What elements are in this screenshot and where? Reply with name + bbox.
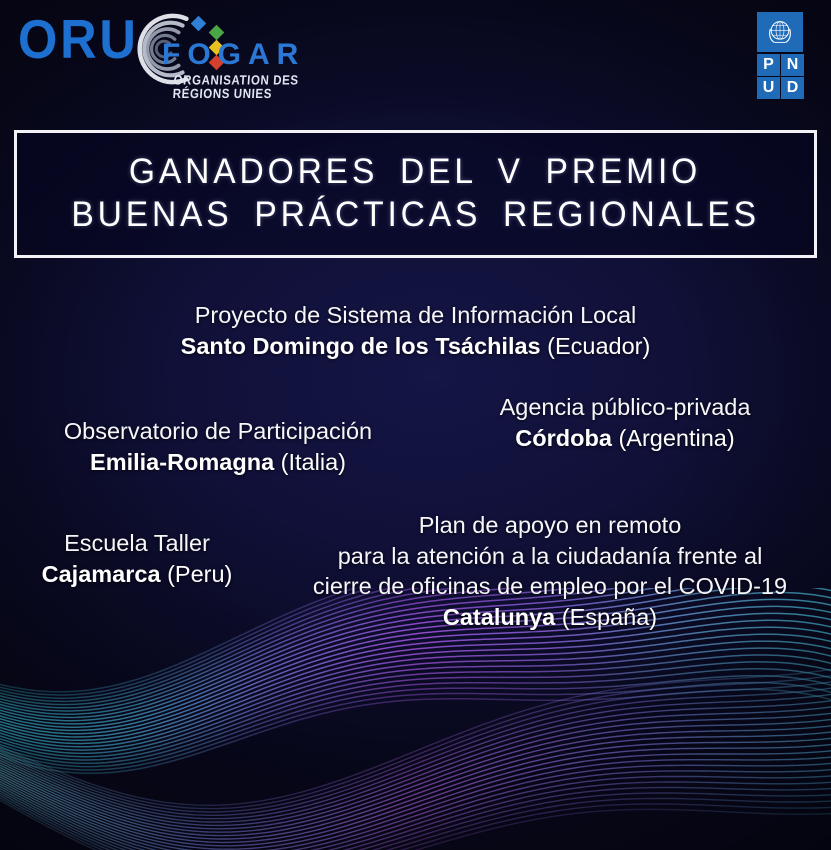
winner-region: Córdoba bbox=[515, 425, 612, 451]
winner-entry-santo-domingo: Proyecto de Sistema de Información Local… bbox=[0, 300, 831, 361]
winners-list: Proyecto de Sistema de Información Local… bbox=[0, 0, 831, 850]
winner-entry-cordoba: Agencia público-privada Córdoba (Argenti… bbox=[432, 392, 818, 453]
winner-description-line-3: cierre de oficinas de empleo por el COVI… bbox=[276, 571, 824, 602]
winner-description: Escuela Taller bbox=[8, 528, 266, 559]
winner-place: Cajamarca (Peru) bbox=[8, 559, 266, 590]
winner-place: Santo Domingo de los Tsáchilas (Ecuador) bbox=[0, 331, 831, 362]
winner-country: (Ecuador) bbox=[547, 333, 650, 359]
winner-region: Emilia-Romagna bbox=[90, 449, 274, 475]
winner-description: Observatorio de Participación bbox=[18, 416, 418, 447]
winner-place: Catalunya (España) bbox=[276, 602, 824, 633]
winner-description: Proyecto de Sistema de Información Local bbox=[0, 300, 831, 331]
winner-description-line-1: Plan de apoyo en remoto bbox=[276, 510, 824, 541]
winner-region: Santo Domingo de los Tsáchilas bbox=[181, 333, 541, 359]
winner-country: (Argentina) bbox=[618, 425, 734, 451]
winner-region: Catalunya bbox=[443, 604, 555, 630]
winner-place: Emilia-Romagna (Italia) bbox=[18, 447, 418, 478]
winner-country: (Italia) bbox=[281, 449, 346, 475]
winner-region: Cajamarca bbox=[42, 561, 161, 587]
winner-country: (Peru) bbox=[167, 561, 232, 587]
winner-entry-emilia-romagna: Observatorio de Participación Emilia-Rom… bbox=[18, 416, 418, 477]
winner-description-line-2: para la atención a la ciudadanía frente … bbox=[276, 541, 824, 572]
winner-place: Córdoba (Argentina) bbox=[432, 423, 818, 454]
winner-description: Agencia público-privada bbox=[432, 392, 818, 423]
winner-country: (España) bbox=[562, 604, 657, 630]
winner-entry-cajamarca: Escuela Taller Cajamarca (Peru) bbox=[8, 528, 266, 589]
winner-entry-catalunya: Plan de apoyo en remoto para la atención… bbox=[276, 510, 824, 632]
poster-root: ORU FOGAR ORGANISATION DES RÉGIONS UNIES bbox=[0, 0, 831, 850]
